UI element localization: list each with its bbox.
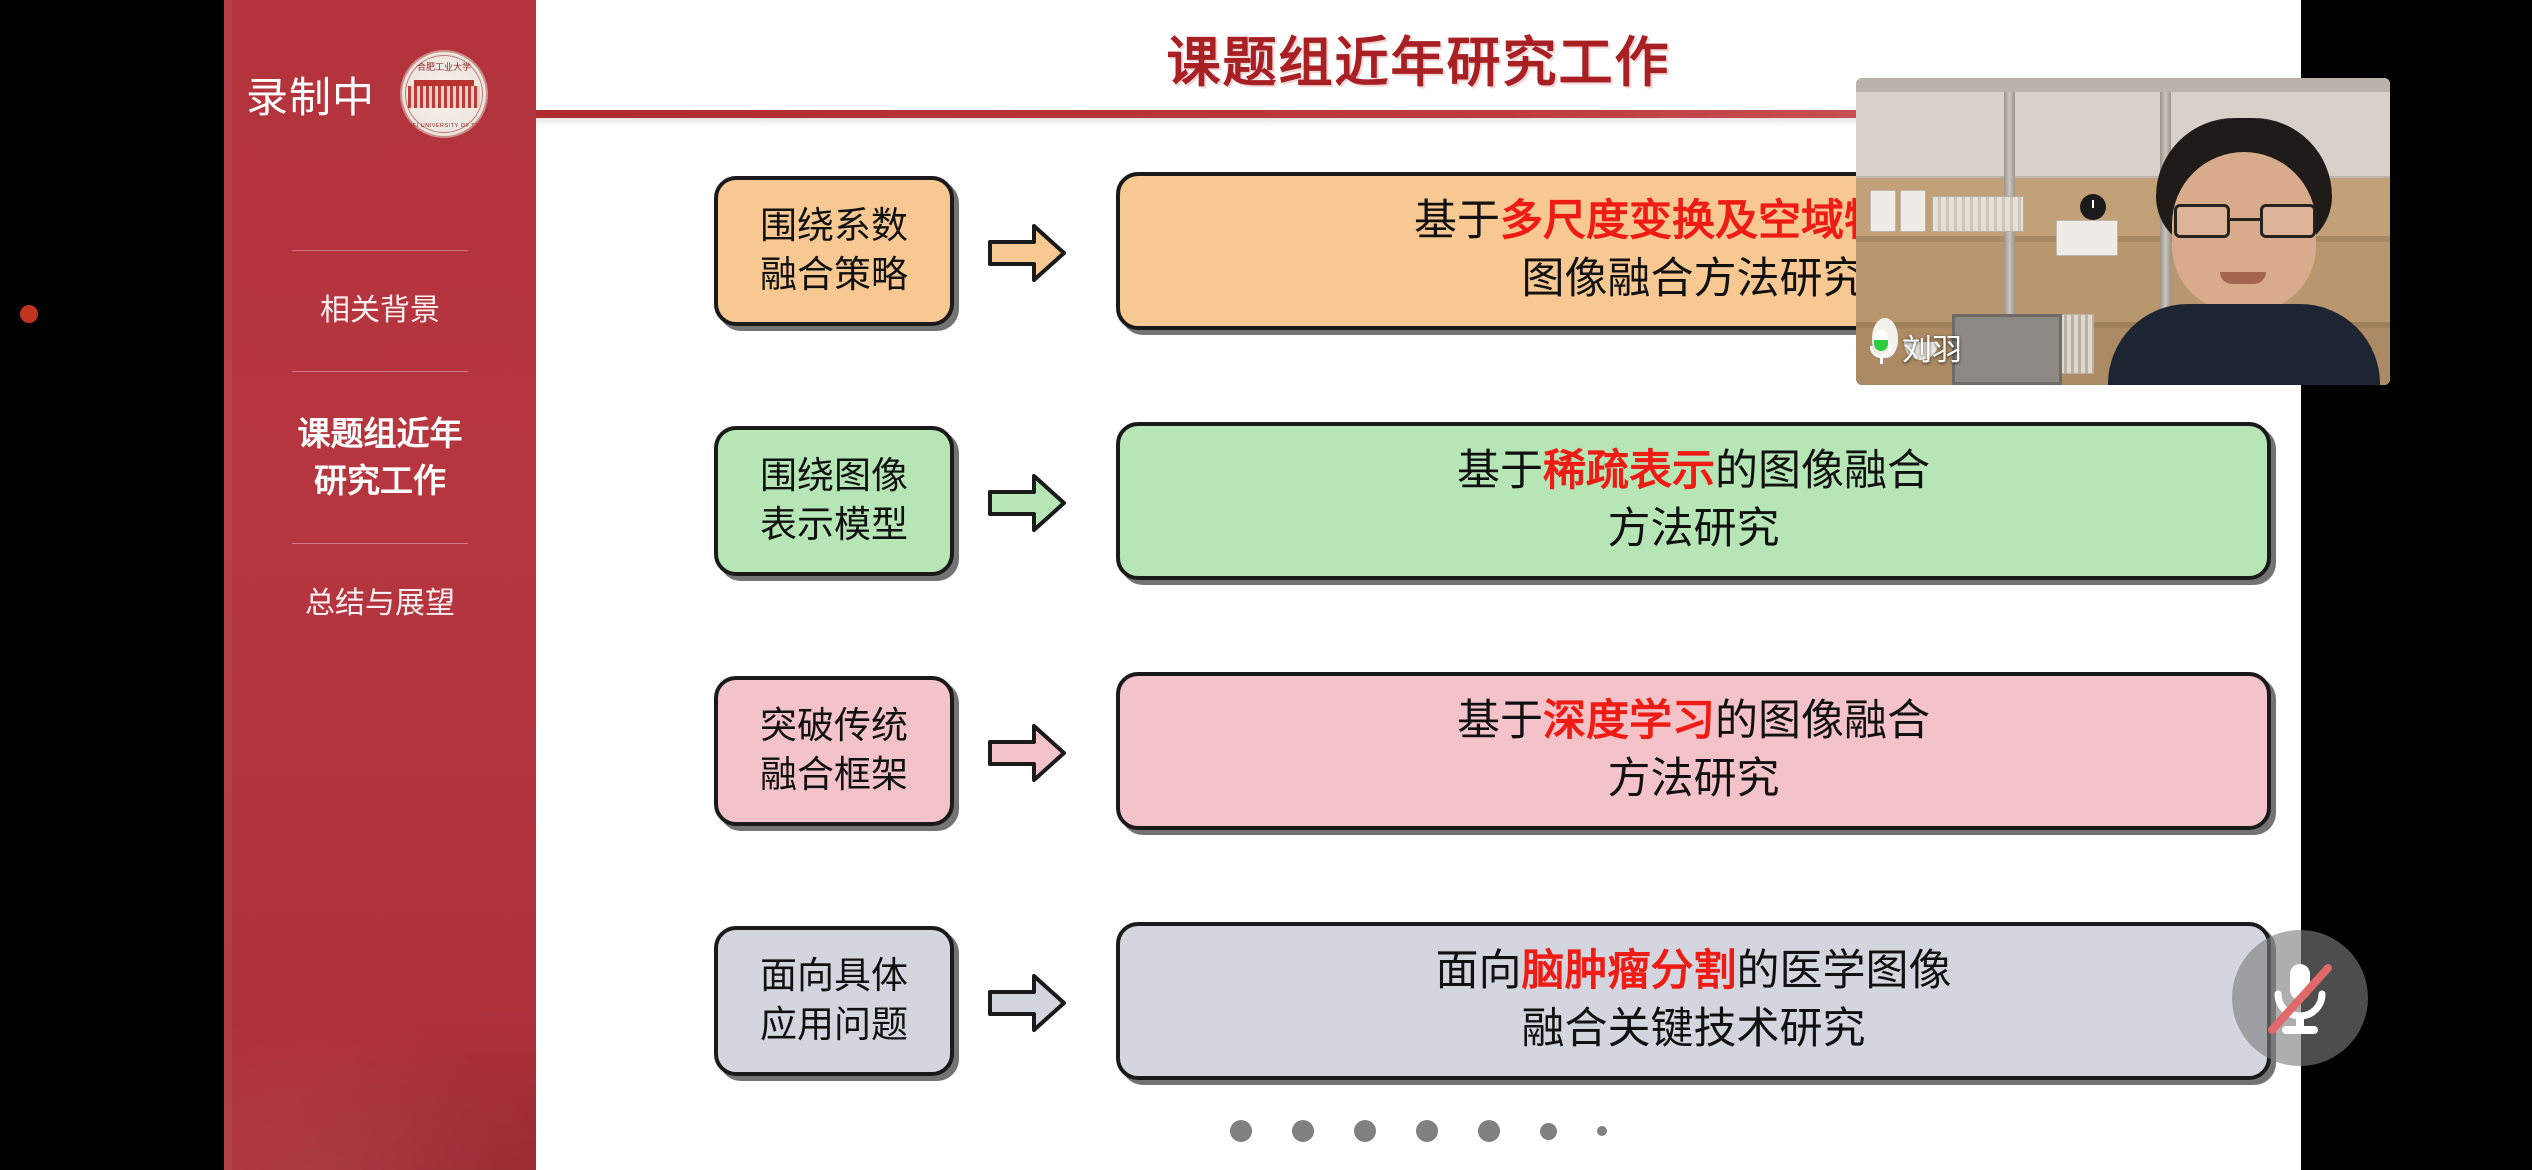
pagination-dot[interactable]: [1292, 1120, 1314, 1142]
row-right-line1: 基于深度学习的图像融合: [1457, 693, 1930, 751]
sidebar-item-summary-outlook[interactable]: 总结与展望: [224, 544, 536, 664]
diagram-row: 面向具体 应用问题 面向脑肿瘤分割的医学图像 融合关键技术研究: [536, 900, 2301, 1150]
right-arrow-icon: [988, 972, 1066, 1034]
recording-status: 录制中 合肥工业大学 HEFEI UNIVERSITY OF TECHNOLOG…: [224, 42, 536, 138]
right-arrow-icon: [988, 472, 1066, 534]
row-right-box: 面向脑肿瘤分割的医学图像 融合关键技术研究: [1116, 922, 2271, 1080]
line1-prefix: 基于: [1457, 697, 1543, 745]
row-right-line2: 方法研究: [1608, 751, 1780, 809]
seal-top-text: 合肥工业大学: [400, 60, 488, 73]
seal-bottom-text: HEFEI UNIVERSITY OF TECHNOLOGY: [400, 123, 488, 129]
microphone-active-icon: [1870, 330, 1892, 364]
presentation-sidebar: 录制中 合肥工业大学 HEFEI UNIVERSITY OF TECHNOLOG…: [224, 0, 536, 1170]
row-right-line2: 方法研究: [1608, 501, 1780, 559]
mute-toggle-button[interactable]: [2232, 930, 2368, 1066]
right-arrow-icon: [988, 722, 1066, 784]
row-right-line2: 融合关键技术研究: [1522, 1001, 1866, 1059]
row-right-box: 基于稀疏表示的图像融合 方法研究: [1116, 422, 2271, 580]
microphone-muted-icon: [2260, 956, 2340, 1040]
row-right-box: 基于深度学习的图像融合 方法研究: [1116, 672, 2271, 830]
line1-suffix: 的图像融合: [1715, 697, 1930, 745]
sidebar-nav: 相关背景 课题组近年 研究工作 总结与展望: [224, 250, 536, 664]
participant-name: 刘羽: [1902, 325, 1962, 369]
diagram-row: 围绕图像 表示模型 基于稀疏表示的图像融合 方法研究: [536, 400, 2301, 650]
row-right-line1: 基于稀疏表示的图像融合: [1457, 443, 1930, 501]
line1-prefix: 基于: [1457, 447, 1543, 495]
line1-highlight: 深度学习: [1543, 697, 1715, 745]
recording-label: 录制中: [246, 64, 375, 125]
line1-prefix: 基于: [1414, 197, 1500, 245]
university-seal-logo: 合肥工业大学 HEFEI UNIVERSITY OF TECHNOLOGY: [400, 50, 488, 138]
row-left-box: 围绕系数 融合策略: [714, 176, 954, 326]
right-arrow-icon: [988, 222, 1066, 284]
line1-prefix: 面向: [1436, 947, 1522, 995]
glasses-icon: [2174, 204, 2316, 238]
line1-highlight: 稀疏表示: [1543, 447, 1715, 495]
pagination-dot[interactable]: [1230, 1120, 1252, 1142]
sidebar-item-recent-research[interactable]: 课题组近年 研究工作: [224, 372, 536, 544]
row-left-box: 突破传统 融合框架: [714, 676, 954, 826]
row-left-box: 围绕图像 表示模型: [714, 426, 954, 576]
sidebar-decoration: [224, 970, 536, 1170]
row-left-box: 面向具体 应用问题: [714, 926, 954, 1076]
pagination-dot[interactable]: [1597, 1126, 1607, 1136]
participant-name-tag: 刘羽: [1870, 325, 1962, 369]
sidebar-item-background[interactable]: 相关背景: [224, 251, 536, 371]
letterbox-left: [0, 0, 224, 1170]
row-right-line2: 图像融合方法研究: [1522, 251, 1866, 309]
pagination-dot[interactable]: [1478, 1120, 1500, 1142]
line1-suffix: 的医学图像: [1737, 947, 1952, 995]
diagram-row: 突破传统 融合框架 基于深度学习的图像融合 方法研究: [536, 650, 2301, 900]
recording-edge-dot: [20, 305, 38, 323]
slide-pagination: [536, 1120, 2301, 1142]
line1-highlight: 脑肿瘤分割: [1522, 947, 1737, 995]
participant-avatar: [2098, 118, 2390, 385]
pagination-dot[interactable]: [1416, 1120, 1438, 1142]
row-right-line1: 面向脑肿瘤分割的医学图像: [1436, 943, 1952, 1001]
line1-suffix: 的图像融合: [1715, 447, 1930, 495]
pagination-dot[interactable]: [1540, 1123, 1557, 1140]
pagination-dot[interactable]: [1354, 1120, 1376, 1142]
participant-video-tile[interactable]: 刘羽: [1856, 78, 2390, 385]
screen-root: 录制中 合肥工业大学 HEFEI UNIVERSITY OF TECHNOLOG…: [0, 0, 2532, 1170]
